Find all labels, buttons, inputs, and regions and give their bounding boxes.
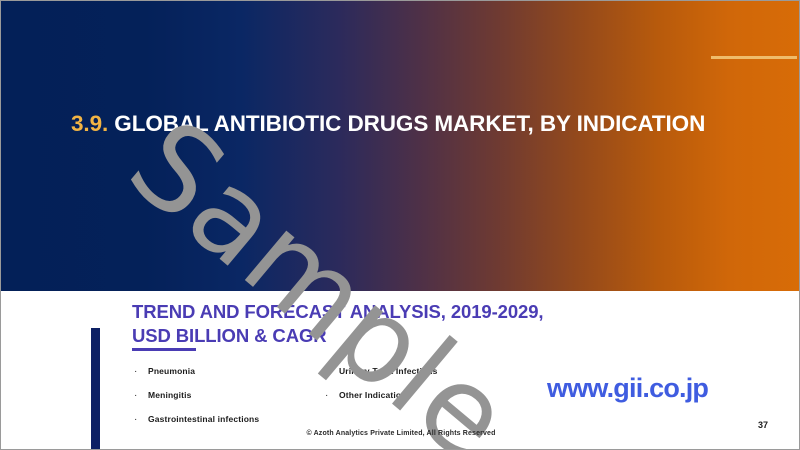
bullet-item-label: Other Indications — [339, 389, 411, 402]
slide-title: 3.9. GLOBAL ANTIBIOTIC DRUGS MARKET, BY … — [71, 109, 731, 139]
bullet-item-label: Gastrointestinal infections — [148, 413, 259, 426]
section-number: 3.9. — [71, 111, 108, 136]
bullet-column-right: ·Urinary Tract Infections·Other Indicati… — [323, 365, 553, 413]
bullet-item: ·Other Indications — [323, 389, 553, 413]
bullet-item-label: Meningitis — [148, 389, 192, 402]
bullet-item: ·Pneumonia — [132, 365, 342, 389]
gold-accent-rule — [711, 56, 797, 59]
bullet-marker-icon: · — [132, 365, 148, 378]
bullet-column-left: ·Pneumonia·Meningitis·Gastrointestinal i… — [132, 365, 342, 437]
presentation-slide: 3.9. GLOBAL ANTIBIOTIC DRUGS MARKET, BY … — [0, 0, 800, 450]
bullet-item: ·Meningitis — [132, 389, 342, 413]
bullet-marker-icon: · — [323, 389, 339, 402]
subtitle-line-1: TREND AND FORECAST ANALYSIS, 2019-2029, — [132, 300, 752, 324]
subtitle-underline-rule — [132, 348, 196, 351]
bullet-item-label: Urinary Tract Infections — [339, 365, 438, 378]
subtitle-line-2: USD BILLION & CAGR — [132, 324, 752, 348]
page-number: 37 — [758, 420, 768, 430]
site-url-label[interactable]: www.gii.co.jp — [547, 373, 708, 404]
copyright-notice: © Azoth Analytics Private Limited, All R… — [1, 430, 800, 437]
slide-subtitle: TREND AND FORECAST ANALYSIS, 2019-2029, … — [132, 300, 752, 347]
bullet-marker-icon: · — [323, 365, 339, 378]
bullet-item-label: Pneumonia — [148, 365, 195, 378]
bullet-item: ·Urinary Tract Infections — [323, 365, 553, 389]
bullet-marker-icon: · — [132, 389, 148, 402]
bullet-marker-icon: · — [132, 413, 148, 426]
slide-title-text: GLOBAL ANTIBIOTIC DRUGS MARKET, BY INDIC… — [114, 111, 705, 136]
gradient-banner — [1, 1, 800, 291]
